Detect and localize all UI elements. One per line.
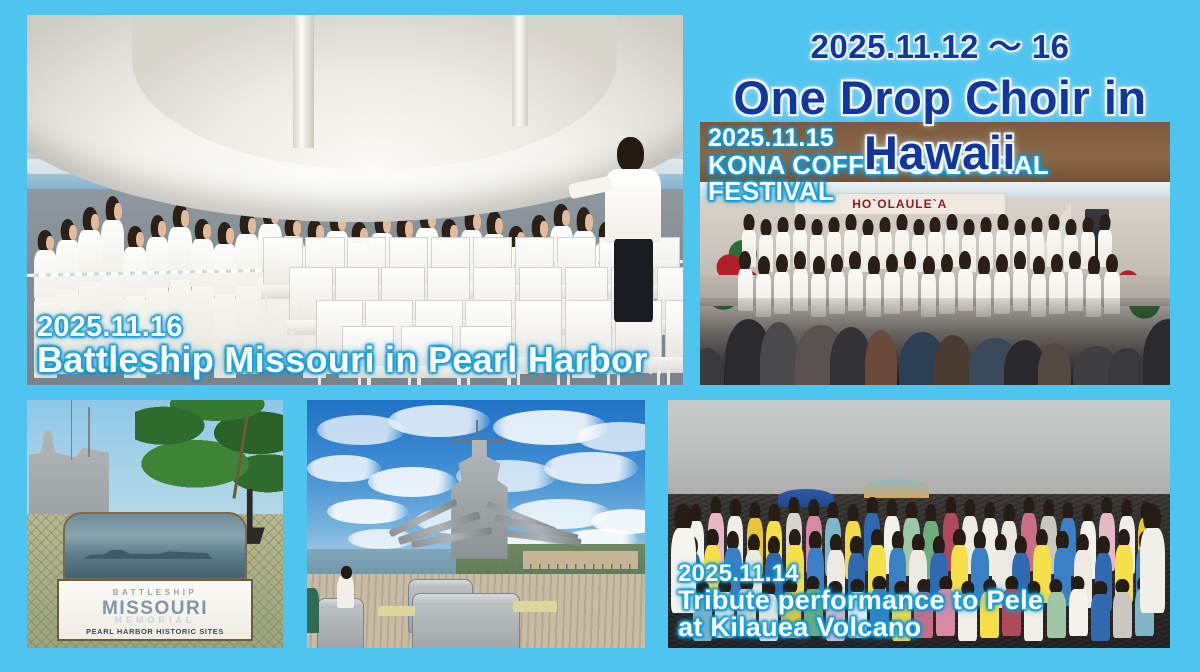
chair-leg (265, 295, 268, 333)
choir-member (235, 211, 259, 374)
tent-pole-right (512, 15, 528, 126)
chair-seat (398, 366, 457, 377)
member-poncho (914, 592, 933, 638)
visitor-head (341, 566, 352, 578)
header-date-range: 2025.11.12 ～ 16 (690, 20, 1190, 68)
memorial-sign-board: BATTLESHIP MISSOURI MEMORIAL PEARL HARBO… (63, 512, 247, 641)
member-poncho (936, 589, 955, 635)
choir-member-face (158, 221, 166, 237)
photo-scene-pele (668, 400, 1170, 648)
group-member (980, 579, 999, 639)
group-member (936, 576, 955, 636)
chair-leg (607, 369, 610, 385)
choir-member-face (562, 210, 570, 226)
group-member (1002, 576, 1021, 636)
choir-member-face (540, 221, 548, 237)
hoolaulea-banner-text: HO`OLAULE`A (852, 197, 947, 211)
sign-ship-silhouette (83, 547, 213, 564)
visitor-figure-left (307, 588, 319, 633)
choir-member (34, 230, 58, 378)
deck-mat-left (378, 606, 415, 616)
member-poncho (958, 594, 977, 640)
group-member (870, 576, 889, 636)
choir-member-face (136, 232, 144, 247)
conductor-head (617, 137, 644, 172)
member-head (1106, 254, 1118, 275)
cloud (368, 467, 456, 497)
choir-member-skirt (101, 275, 124, 367)
folding-chair (665, 300, 683, 385)
choir-member-skirt (34, 298, 57, 378)
sign-line-battleship: BATTLESHIP (59, 588, 250, 597)
group-member-end-right (1140, 504, 1165, 613)
choir-member-shirt (191, 239, 215, 289)
photo-scene-deck (307, 400, 645, 648)
battleship-missouri-photo[interactable]: 2025.11.16 Battleship Missouri in Pearl … (27, 15, 683, 385)
member-head (886, 254, 898, 275)
deck-mat-right (513, 601, 557, 612)
poster-canvas: 2025.11.12 ～ 16 One Drop Choir in Hawaii (0, 0, 1200, 672)
group-member (958, 581, 977, 641)
member-head (776, 254, 788, 275)
choir-member-shirt (101, 220, 125, 278)
poster-header: 2025.11.12 ～ 16 One Drop Choir in Hawaii (690, 20, 1190, 180)
member-poncho (892, 594, 911, 640)
group-member (715, 579, 734, 639)
group-member (737, 576, 756, 636)
group-member (826, 581, 845, 641)
chair-leg (318, 369, 321, 385)
choir-member-shirt (168, 227, 192, 284)
chair-back (460, 326, 512, 368)
chair-back (665, 300, 683, 360)
turret-cap (409, 580, 471, 588)
choir-member-face (495, 218, 503, 235)
ship-mast-secondary (88, 407, 89, 457)
group-member (804, 576, 823, 636)
choir-member-face (46, 236, 54, 251)
choir-member-skirt (236, 286, 259, 374)
choir-member-shirt (146, 237, 170, 291)
member-poncho (804, 589, 823, 635)
tent-pole-left (293, 15, 314, 148)
conductor-shirt (605, 169, 660, 243)
chair-leg (617, 369, 620, 385)
member-shirt (1140, 528, 1165, 613)
folding-chair (401, 326, 453, 385)
group-member (1113, 579, 1132, 639)
choir-member (123, 226, 147, 378)
sign-name-plate: BATTLESHIP MISSOURI MEMORIAL PEARL HARBO… (57, 579, 252, 641)
member-poncho (1047, 592, 1066, 638)
group-member (1069, 576, 1088, 636)
missouri-memorial-sign-photo[interactable]: BATTLESHIP MISSOURI MEMORIAL PEARL HARBO… (27, 400, 283, 648)
group-member (1091, 581, 1110, 641)
kilauea-group-photo[interactable]: 2025.11.14 Tribute performance to Pele a… (668, 400, 1170, 648)
photo-scene-sign: BATTLESHIP MISSOURI MEMORIAL PEARL HARBO… (27, 400, 283, 648)
cloud (327, 499, 408, 524)
member-poncho (737, 589, 756, 635)
group-member (693, 581, 712, 641)
group-member (1024, 581, 1043, 641)
member-poncho (1002, 589, 1021, 635)
chair-leg (517, 369, 520, 385)
cloud (388, 405, 489, 437)
member-poncho (1024, 594, 1043, 640)
choir-member-face (293, 221, 301, 236)
chair-seat (339, 366, 398, 377)
group-member-end-left (671, 504, 696, 613)
choir-member-face (226, 228, 234, 244)
member-poncho (1069, 589, 1088, 635)
turret-cap (413, 594, 519, 605)
ship-mast (71, 400, 73, 460)
chair-back (515, 300, 562, 360)
member-poncho (781, 592, 800, 638)
member-poncho (826, 594, 845, 640)
folding-chair (460, 326, 512, 385)
photo-scene-choir (27, 15, 683, 385)
choir-member-face (473, 214, 481, 230)
choir-member (191, 219, 215, 367)
choir-member-face (114, 203, 122, 220)
choir-member (56, 219, 80, 374)
palm-foliage (135, 400, 283, 509)
striped-umbrella (864, 479, 929, 498)
choir-member-face (69, 225, 77, 241)
group-member (892, 581, 911, 641)
choir-member-skirt (124, 296, 147, 378)
folding-chair (342, 326, 394, 385)
missouri-deck-photo[interactable] (307, 400, 645, 648)
choir-member-skirt (56, 290, 79, 374)
choir-member-skirt (214, 294, 237, 378)
folding-chair (515, 300, 562, 385)
choir-member (168, 204, 192, 371)
choir-member-skirt (169, 280, 192, 370)
conductor-trousers (614, 239, 653, 322)
chair-leg (567, 369, 570, 385)
chair-leg (291, 331, 294, 374)
choir-member-shirt (78, 230, 102, 285)
member-poncho (1091, 594, 1110, 640)
group-member (848, 579, 867, 639)
member-poncho (980, 592, 999, 638)
member-head (996, 254, 1008, 275)
choir-member-face (405, 221, 413, 237)
deck-railing (503, 564, 645, 571)
choir-member-shirt (235, 234, 259, 289)
chair-leg (657, 369, 660, 385)
chair-leg (667, 369, 670, 385)
chair-back (401, 326, 453, 368)
member-head (941, 254, 953, 275)
member-poncho (693, 594, 712, 640)
choir-member-face (181, 210, 189, 227)
sign-line-pearl-harbor: PEARL HARBOR HISTORIC SITES (59, 627, 250, 636)
member-poncho (848, 592, 867, 638)
visitor-figure (337, 574, 354, 609)
choir-member (146, 215, 170, 374)
choir-member-shirt (56, 240, 80, 293)
choir-member-skirt (79, 282, 102, 370)
member-poncho (759, 594, 778, 640)
gun-turret-front (412, 593, 520, 648)
choir-member-skirt (146, 288, 169, 374)
member-poncho (715, 592, 734, 638)
sign-line-memorial: MEMORIAL (59, 615, 250, 625)
choir-member-skirt (191, 287, 214, 367)
choir-member-face (585, 214, 593, 231)
member-head (1051, 254, 1063, 275)
chair-seat (457, 366, 516, 377)
member-shirt (671, 528, 696, 613)
group-member (781, 579, 800, 639)
choir-member-face (203, 224, 211, 239)
hoolaulea-banner: HO`OLAULE`A (794, 193, 1006, 215)
choir-member (78, 207, 102, 370)
chair-leg (557, 369, 560, 385)
sign-ship-illustration (63, 512, 247, 580)
chair-seat (662, 357, 683, 373)
member-head (831, 254, 843, 275)
choir-member-face (91, 214, 99, 230)
group-member (914, 579, 933, 639)
page-title: One Drop Choir in Hawaii (690, 70, 1190, 180)
group-member (1047, 579, 1066, 639)
member-poncho (870, 589, 889, 635)
group-member (759, 581, 778, 641)
chair-back (342, 326, 394, 368)
conductor-figure (604, 137, 663, 322)
choir-member (213, 222, 237, 377)
choir-member (101, 196, 125, 366)
member-poncho (1113, 592, 1132, 638)
choir-member-face (248, 218, 256, 234)
